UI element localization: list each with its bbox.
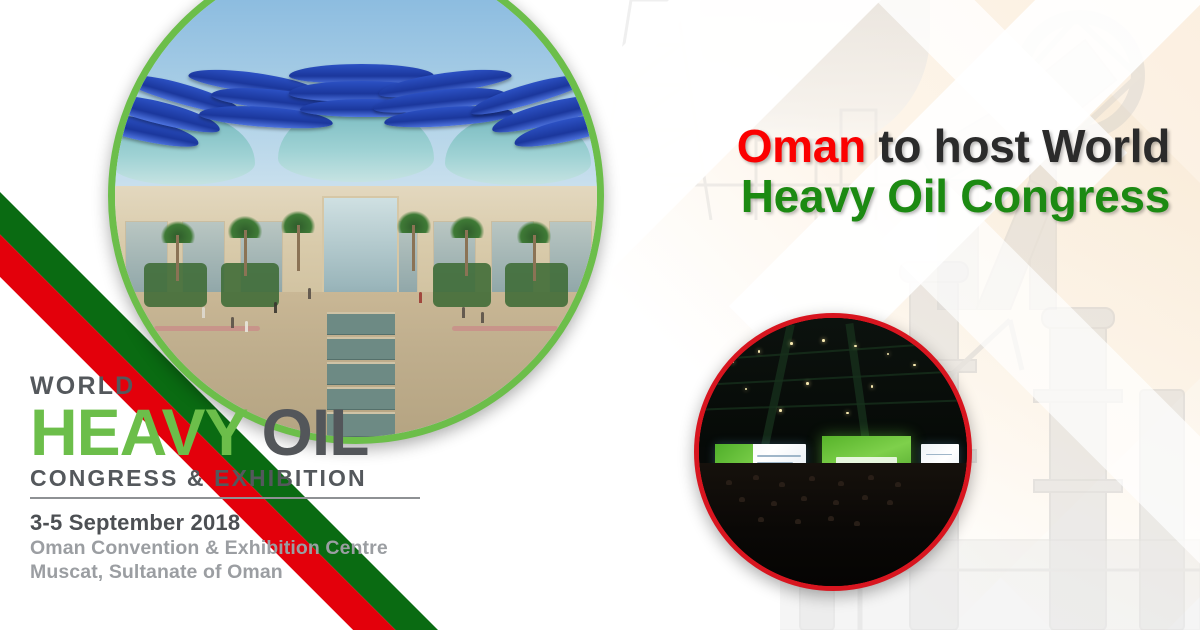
headline-line-1: Oman to host World <box>625 122 1170 172</box>
venue-line-1: Oman Convention & Exhibition Centre <box>30 536 420 561</box>
headline-line-1-rest: to host World <box>866 120 1170 172</box>
event-logo: WORLD HEAVYOIL CONGRESS & EXHIBITION 3-5… <box>30 374 420 585</box>
promo-banner: Oman to host World Heavy Oil Congress WO… <box>0 0 1200 630</box>
headline: Oman to host World Heavy Oil Congress <box>625 122 1170 221</box>
venue-line-2: Muscat, Sultanate of Oman <box>30 560 420 585</box>
event-dates: 3-5 September 2018 <box>30 510 420 536</box>
logo-main-text: HEAVYOIL <box>30 402 420 463</box>
conference-photo-circle <box>694 313 972 591</box>
venue-photo <box>115 0 597 437</box>
headline-line-2: Heavy Oil Congress <box>625 172 1170 222</box>
logo-oil-text: OIL <box>262 395 369 469</box>
headline-highlight: Oman <box>737 120 866 172</box>
wave-roof <box>115 61 597 206</box>
audience <box>699 463 967 586</box>
logo-heavy-text: HEAVY <box>30 395 248 469</box>
logo-divider <box>30 497 420 499</box>
conference-photo <box>699 318 967 586</box>
logo-subtitle: CONGRESS & EXHIBITION <box>30 467 420 490</box>
